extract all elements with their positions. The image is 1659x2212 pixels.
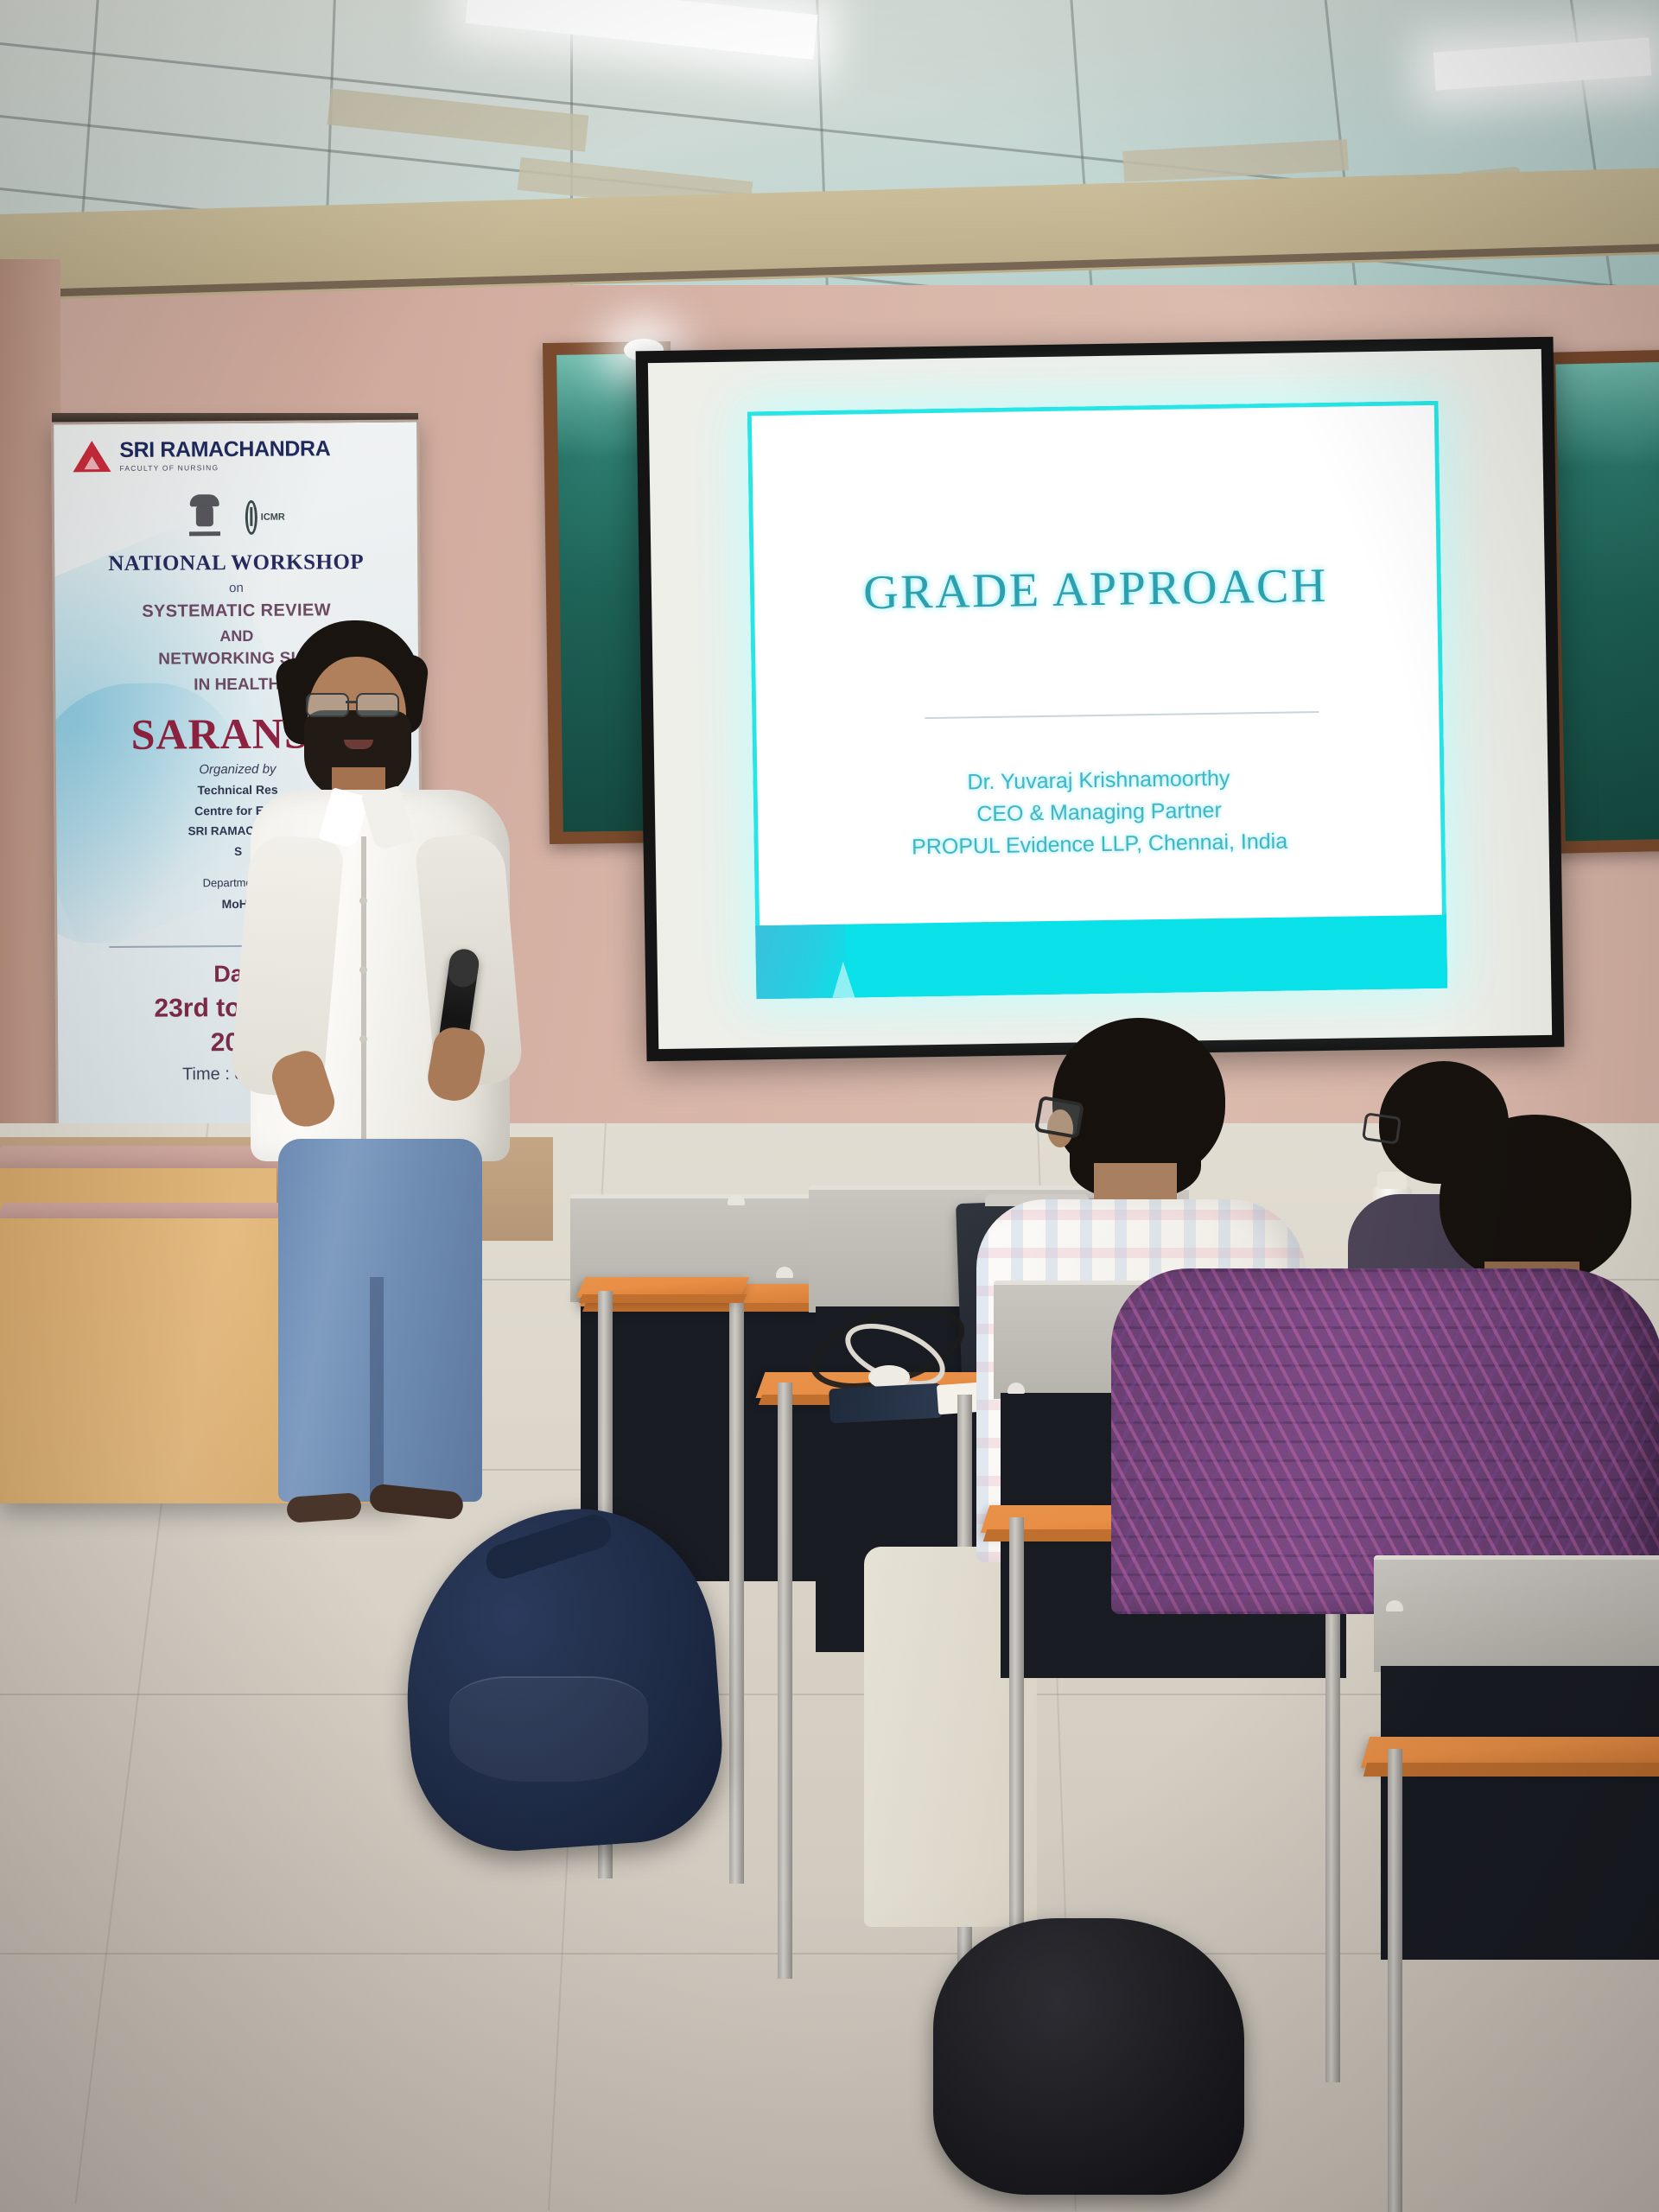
presenter xyxy=(242,620,527,1562)
black-bag xyxy=(933,1918,1244,2195)
audience-2-glasses-icon xyxy=(1362,1112,1402,1145)
ceiling-light-left xyxy=(465,0,817,60)
triangle-logo-icon xyxy=(73,441,111,472)
presentation-slide: GRADE APPROACH Dr. Yuvaraj Krishnamoorth… xyxy=(747,401,1448,999)
banner-emblems: ICMR xyxy=(54,493,417,541)
institution-faculty: FACULTY OF NURSING xyxy=(119,462,330,473)
presenter-glasses-icon xyxy=(304,693,410,714)
slide-title: GRADE APPROACH xyxy=(750,556,1442,623)
institution-name: SRI RAMACHANDRA xyxy=(119,438,330,461)
lecture-hall-photo: GRADE APPROACH Dr. Yuvaraj Krishnamoorth… xyxy=(0,0,1659,2212)
banner-topic-line1: SYSTEMATIC REVIEW xyxy=(55,601,418,623)
slide-band-notch xyxy=(832,962,855,998)
slide-subtitle-block: Dr. Yuvaraj Krishnamoorthy CEO & Managin… xyxy=(753,760,1446,867)
slide-divider-rule xyxy=(925,711,1319,719)
banner-on-word: on xyxy=(54,580,417,597)
audience-1-glasses-icon xyxy=(1034,1096,1085,1139)
slide-bottom-band xyxy=(755,915,1447,1000)
presenter-left-sandal xyxy=(286,1492,362,1523)
ashoka-emblem-icon xyxy=(187,494,223,539)
projection-screen: GRADE APPROACH Dr. Yuvaraj Krishnamoorth… xyxy=(636,337,1565,1062)
banner-logo: SRI RAMACHANDRA FACULTY OF NURSING xyxy=(73,438,404,474)
phone xyxy=(829,1383,943,1424)
banner-heading: NATIONAL WORKSHOP xyxy=(54,550,417,577)
icmr-emblem-icon: ICMR xyxy=(245,496,285,539)
audience-3-head xyxy=(1440,1115,1631,1284)
ceiling-light-right xyxy=(1433,37,1651,90)
